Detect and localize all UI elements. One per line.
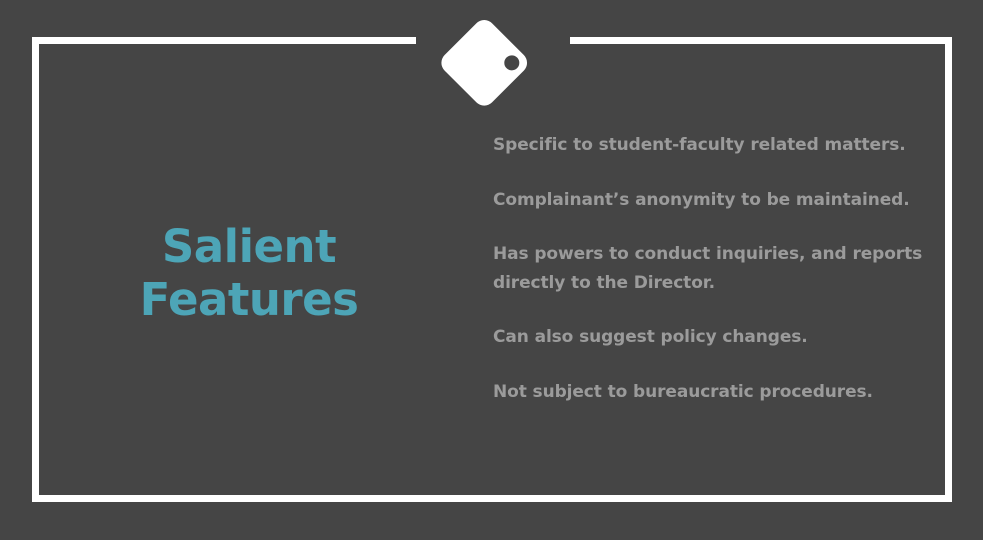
salient-features-list: Specific to student-faculty related matt…	[493, 131, 929, 406]
frame-border-top-right	[570, 37, 952, 44]
list-item: Has powers to conduct inquiries, and rep…	[493, 240, 929, 297]
frame-border-bottom	[32, 495, 952, 502]
frame-border-right	[945, 37, 952, 502]
tag-icon	[440, 8, 544, 112]
frame-border-left	[32, 37, 39, 502]
list-item: Complainant’s anonymity to be maintained…	[493, 186, 929, 215]
page-title: Salient Features	[39, 220, 459, 326]
frame-border-top-left	[32, 37, 416, 44]
list-item: Not subject to bureaucratic procedures.	[493, 378, 929, 407]
slide-canvas: Salient Features Specific to student-fac…	[0, 0, 983, 540]
list-item: Can also suggest policy changes.	[493, 323, 929, 352]
title-block: Salient Features	[39, 220, 459, 326]
list-item: Specific to student-faculty related matt…	[493, 131, 929, 160]
